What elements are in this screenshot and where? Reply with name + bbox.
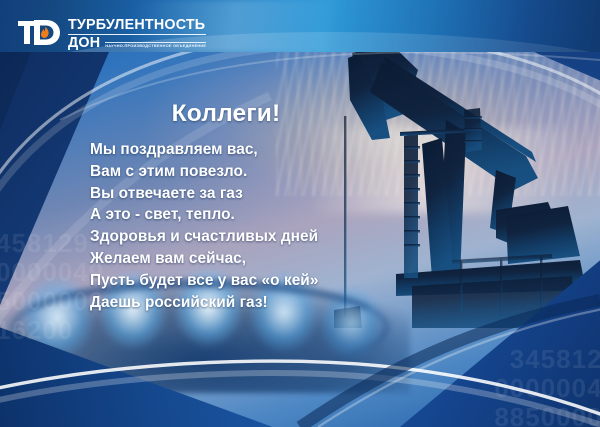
poem-line: Пусть будет все у вас «о кей» xyxy=(90,270,600,292)
poem-line: Вам с этим повезло. xyxy=(90,161,600,183)
logo-title: ТУРБУЛЕНТНОСТЬ xyxy=(68,18,206,32)
greeting-poem: Мы поздравляем вас, Вам с этим повезло. … xyxy=(90,139,600,313)
poem-line: Даешь российский газ! xyxy=(90,292,600,314)
poem-line: Вы отвечаете за газ xyxy=(90,183,600,205)
greeting-headline: Коллеги! xyxy=(0,100,452,128)
logo-wordmark: ТУРБУЛЕНТНОСТЬ ДОН НАУЧНО-ПРОИЗВОДСТВЕНН… xyxy=(68,17,206,50)
greeting-card: 458129 0000049 5000000 16200 3458129 000… xyxy=(0,0,600,427)
greeting-content: Коллеги! Мы поздравляем вас, Вам с этим … xyxy=(0,100,600,313)
company-logo[interactable]: ТУРБУЛЕНТНОСТЬ ДОН НАУЧНО-ПРОИЗВОДСТВЕНН… xyxy=(17,17,206,50)
logo-subtitle: ДОН xyxy=(68,36,100,50)
logo-tagline: НАУЧНО-ПРОИЗВОДСТВЕННОЕ ОБЪЕДИНЕНИЕ xyxy=(105,45,206,50)
poem-line: Желаем вам сейчас, xyxy=(90,248,600,270)
td-monogram-flame-icon xyxy=(17,17,61,48)
poem-line: А это - свет, тепло. xyxy=(90,204,600,226)
poem-line: Здоровья и счастливых дней xyxy=(90,226,600,248)
poem-line: Мы поздравляем вас, xyxy=(90,139,600,161)
